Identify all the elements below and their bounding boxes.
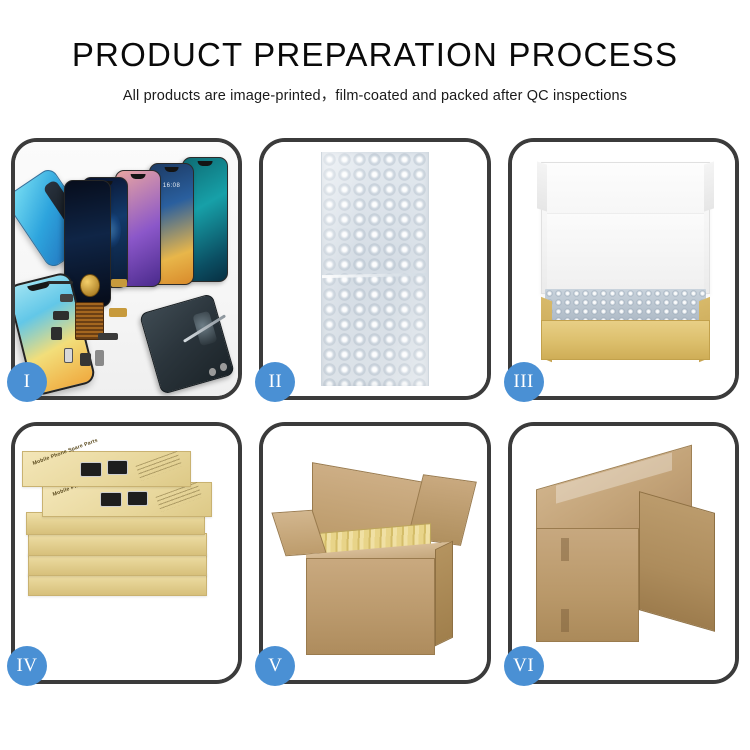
product-preparation-page: PRODUCT PREPARATION PROCESS All products… — [0, 0, 750, 750]
box-1-lid: Mobile Phone Spare Parts — [23, 452, 191, 486]
carton-side-face — [435, 541, 453, 646]
stacked-box-icon-5 — [28, 553, 207, 576]
process-step-panel-4: Mobile Phone Spare Parts Mobile Phone Sp… — [11, 422, 242, 684]
process-step-panel-6: VI — [508, 422, 739, 684]
flex-cable-icon-4 — [98, 333, 118, 341]
sealed-carton-front-face — [536, 528, 639, 642]
box-2-lid: Mobile Phone Spare Parts — [43, 483, 211, 517]
bubble-wrap-sheen — [322, 152, 427, 386]
foam-insert-icon — [547, 213, 703, 289]
carton-front-face — [306, 558, 436, 655]
step-badge-3: III — [504, 362, 544, 402]
flex-cable-icon-3 — [60, 294, 73, 302]
stacked-box-icon-1: Mobile Phone Spare Parts — [22, 451, 192, 487]
sealed-carton-illustration — [512, 426, 735, 680]
step-6-image — [512, 426, 735, 680]
screw-icon-2 — [220, 363, 227, 371]
step-3-image — [512, 142, 735, 396]
kraft-box-front-icon — [541, 320, 711, 361]
stacked-boxes-illustration: Mobile Phone Spare Parts Mobile Phone Sp… — [15, 426, 238, 680]
process-step-panel-5: V — [259, 422, 490, 684]
vibration-motor-icon — [80, 274, 100, 297]
page-title: PRODUCT PREPARATION PROCESS — [0, 36, 750, 74]
step-2-image — [263, 142, 486, 396]
box-1-product-image-1 — [80, 462, 102, 477]
screw-icon-1 — [209, 368, 216, 376]
sealed-carton-side-face — [639, 491, 715, 632]
page-subtitle: All products are image-printed，film-coat… — [0, 84, 750, 105]
connector-icon-2 — [80, 353, 91, 366]
page-header: PRODUCT PREPARATION PROCESS All products… — [0, 0, 750, 105]
flex-cable-icon-1 — [53, 311, 69, 320]
step-badge-2: II — [255, 362, 295, 402]
step-1-image: 16:08 — [15, 142, 238, 396]
phone-parts-illustration: 16:08 — [15, 142, 238, 396]
bubble-wrapped-contents-icon — [545, 289, 706, 322]
box-1-product-image-2 — [107, 460, 129, 475]
stacked-box-icon-2: Mobile Phone Spare Parts — [42, 482, 212, 518]
box-1-spec-lines — [135, 451, 181, 481]
process-step-panel-3: III — [508, 138, 739, 400]
step-5-image — [263, 426, 486, 680]
connector-icon-3 — [95, 350, 104, 365]
box-2-product-image-1 — [100, 492, 122, 507]
speaker-icon — [48, 281, 73, 284]
step-4-image: Mobile Phone Spare Parts Mobile Phone Sp… — [15, 426, 238, 680]
carton-seam-1 — [561, 538, 569, 561]
step-badge-6: VI — [504, 646, 544, 686]
flex-cable-icon-2 — [51, 327, 62, 340]
process-step-panel-1: 16:08 — [11, 138, 242, 400]
open-carton-illustration — [263, 426, 486, 680]
process-step-panel-2: II — [259, 138, 490, 400]
phone-back-housing-icon — [139, 293, 235, 394]
stacked-box-icon-6 — [28, 573, 207, 596]
gold-contact-icon-1 — [109, 308, 127, 317]
step-badge-5: V — [255, 646, 295, 686]
gold-contact-icon-2 — [111, 279, 127, 287]
stacked-box-icon-4 — [28, 533, 207, 556]
step-badge-1: I — [7, 362, 47, 402]
bubble-wrap-strip-icon — [321, 152, 428, 386]
connector-icon-1 — [64, 348, 73, 363]
bubble-wrap-illustration — [263, 142, 486, 396]
box-2-product-image-2 — [127, 491, 149, 506]
process-steps-grid: 16:08 — [11, 138, 739, 684]
carton-seam-2 — [561, 609, 569, 632]
open-kraft-box-illustration — [512, 142, 735, 396]
step-badge-4: IV — [7, 646, 47, 686]
